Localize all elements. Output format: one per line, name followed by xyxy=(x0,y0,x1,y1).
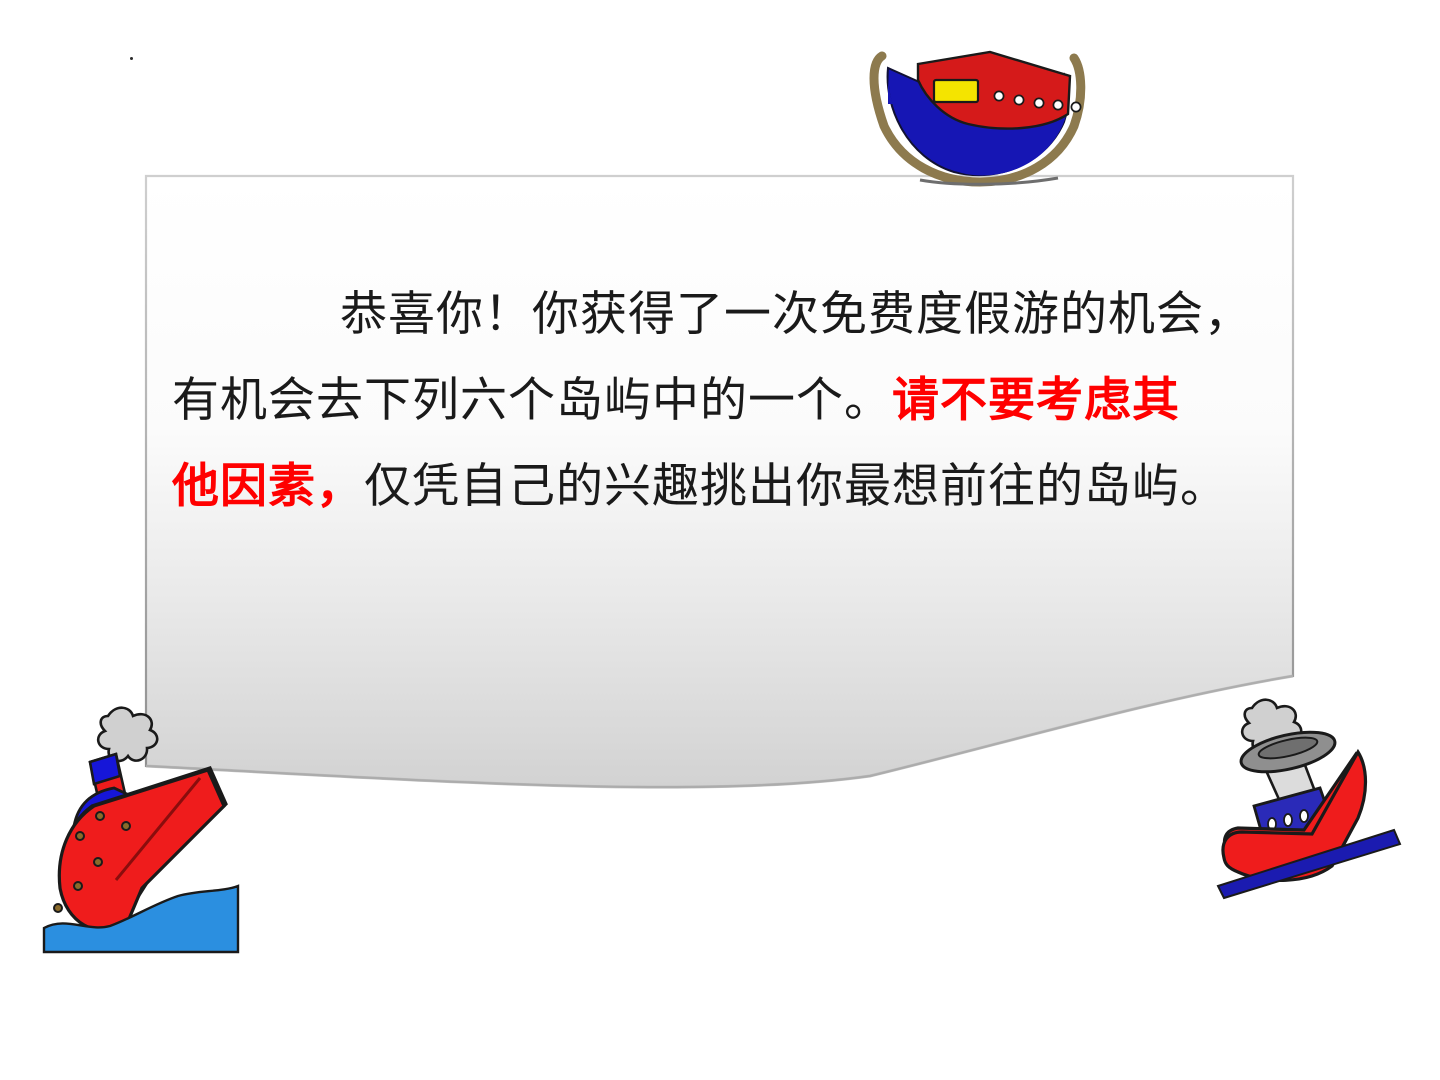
body-line-1-text: 恭喜你！你获得了一次免费度假游的机会， xyxy=(340,289,1252,341)
slide-canvas: 恭喜你！你获得了一次免费度假游的机会， 有机会去下列六个岛屿中的一个。请不要考虑… xyxy=(0,0,1440,1080)
body-line-2-black: 有机会去下列六个岛屿中的一个。 xyxy=(172,375,892,427)
ship-bottom-left-icon xyxy=(30,700,250,955)
body-line-3-highlight: 他因素， xyxy=(172,461,364,513)
tugboat-bottom-right-icon xyxy=(1208,690,1428,900)
stray-dot-artifact xyxy=(130,57,133,60)
body-line-2: 有机会去下列六个岛屿中的一个。请不要考虑其 xyxy=(172,358,1252,444)
body-line-3: 他因素，仅凭自己的兴趣挑出你最想前往的岛屿。 xyxy=(172,444,1252,530)
body-line-3-black: 仅凭自己的兴趣挑出你最想前往的岛屿。 xyxy=(364,461,1228,513)
boat-top-right-icon xyxy=(862,46,1092,191)
body-line-2-highlight: 请不要考虑其 xyxy=(892,375,1180,427)
body-line-1: 恭喜你！你获得了一次免费度假游的机会， xyxy=(172,272,1252,358)
banner-body-text: 恭喜你！你获得了一次免费度假游的机会， 有机会去下列六个岛屿中的一个。请不要考虑… xyxy=(172,272,1252,530)
